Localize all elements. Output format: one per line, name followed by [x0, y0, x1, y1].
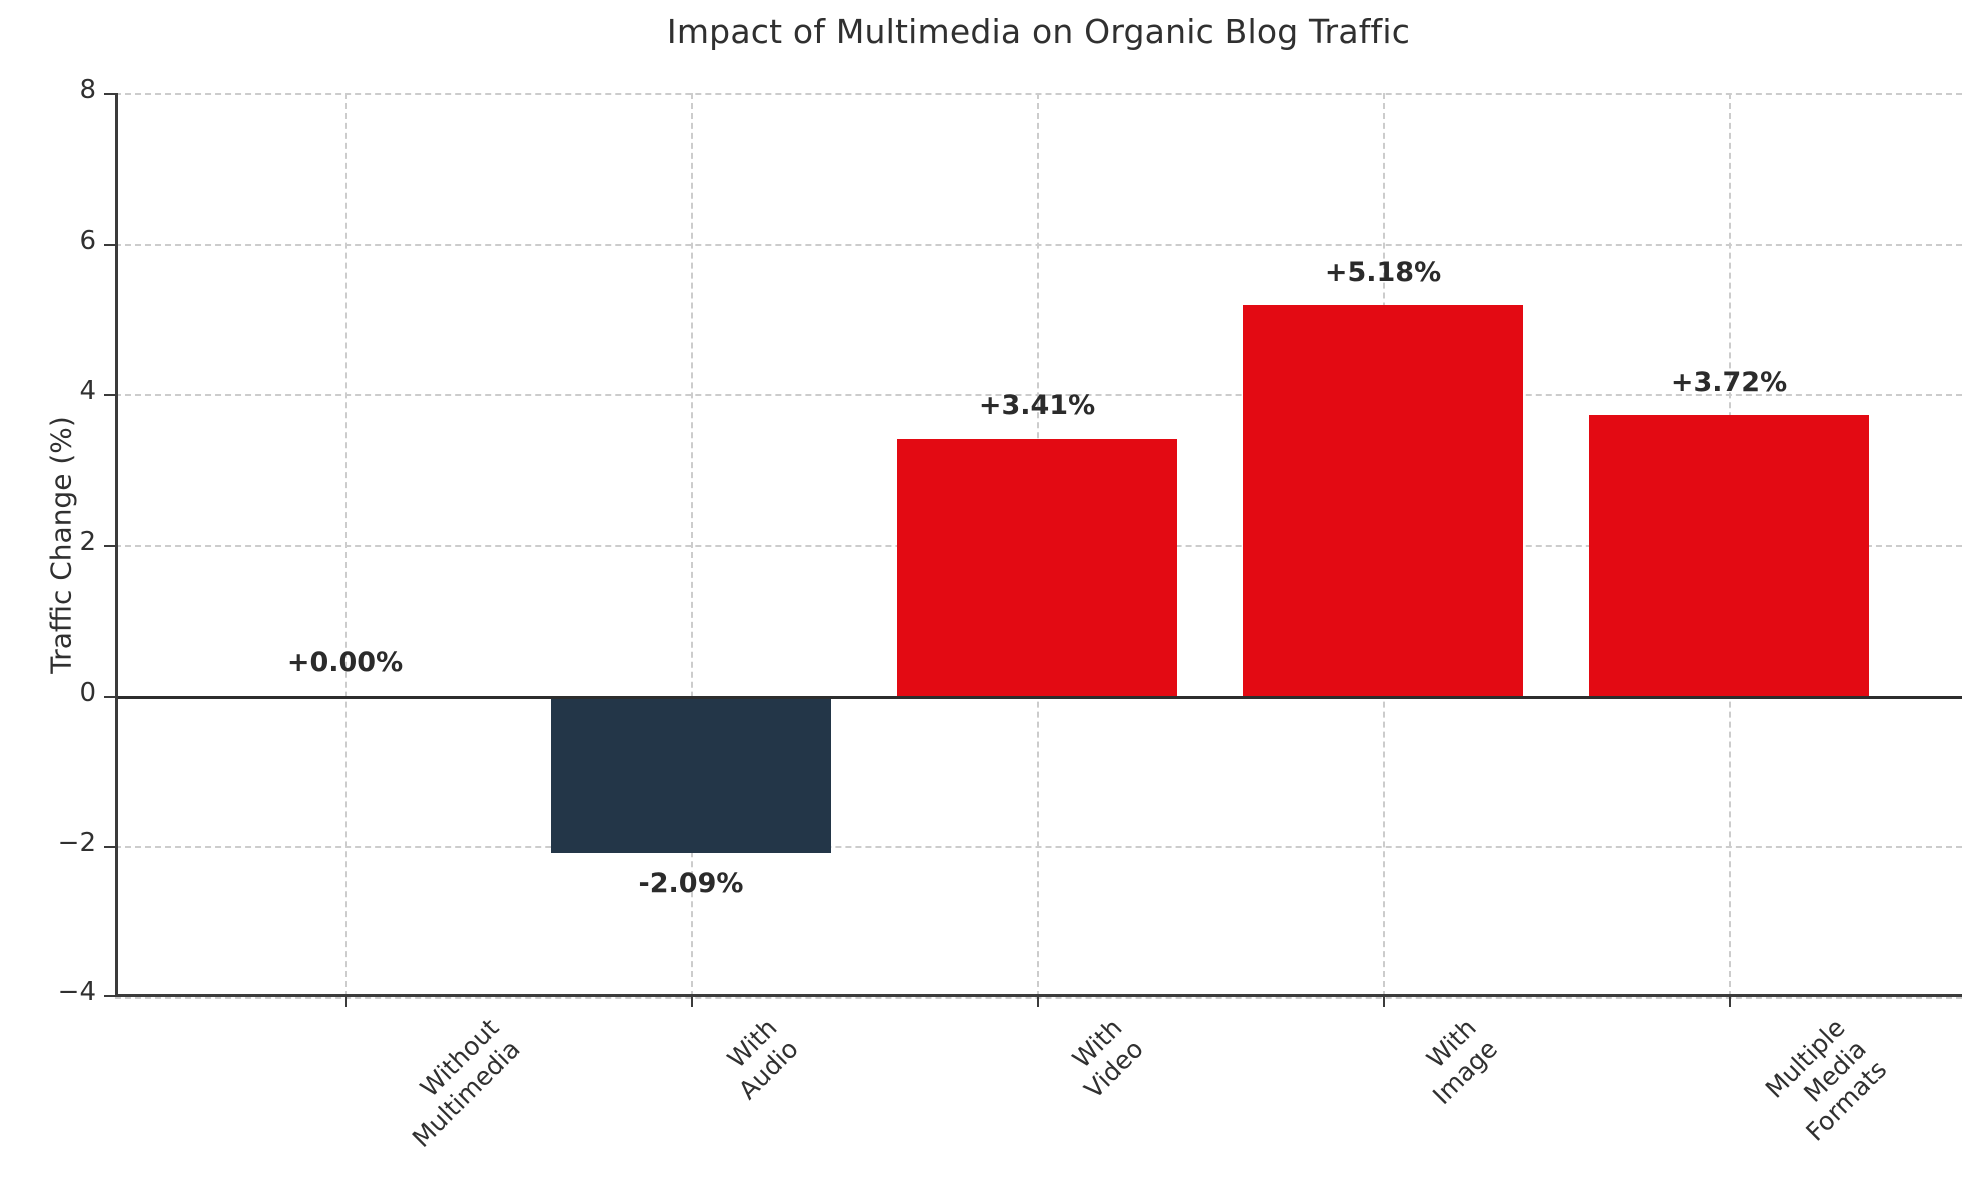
xtick-label-with-image: With Image [1406, 1013, 1503, 1110]
ytick-mark-4 [104, 394, 115, 396]
value-label-multiple-media-formats: +3.72% [1671, 367, 1787, 398]
ytick-mark-neg4 [104, 995, 115, 997]
gridline-v-0 [345, 93, 347, 997]
ytick-mark-6 [104, 244, 115, 246]
bar-with-video[interactable] [897, 439, 1177, 696]
ytick-label-4: 4 [20, 376, 96, 406]
plot-area: +0.00% -2.09% +3.41% +5.18% +3.72% 8 6 4… [115, 93, 1962, 997]
xtick-mark-1 [691, 997, 693, 1007]
bar-with-audio[interactable] [551, 696, 831, 854]
ytick-mark-0 [104, 696, 115, 698]
axis-spine-bottom [115, 994, 1962, 997]
ytick-label-neg4: −4 [20, 977, 96, 1007]
xtick-mark-3 [1383, 997, 1385, 1007]
ytick-mark-8 [104, 93, 115, 95]
xtick-label-with-audio: With Audio [712, 1013, 804, 1105]
xtick-label-with-video: With Video [1058, 1013, 1149, 1104]
ytick-label-6: 6 [20, 226, 96, 256]
bar-multiple-media-formats[interactable] [1589, 415, 1869, 695]
value-label-without-multimedia: +0.00% [287, 647, 403, 678]
xtick-label-without-multimedia: Without Multimedia [386, 1013, 526, 1153]
xtick-mark-2 [1037, 997, 1039, 1007]
xtick-label-multiple-media-formats: Multiple Media Formats [1759, 1013, 1893, 1147]
ytick-label-0: 0 [20, 678, 96, 708]
y-axis-label: Traffic Change (%) [45, 416, 78, 674]
value-label-with-audio: -2.09% [639, 868, 744, 899]
ytick-label-8: 8 [20, 75, 96, 105]
xtick-mark-4 [1729, 997, 1731, 1007]
ytick-mark-2 [104, 545, 115, 547]
ytick-label-neg2: −2 [20, 828, 96, 858]
gridline-v-1 [691, 93, 693, 997]
chart-figure: Impact of Multimedia on Organic Blog Tra… [0, 0, 1979, 1180]
chart-title: Impact of Multimedia on Organic Blog Tra… [115, 12, 1962, 51]
bar-with-image[interactable] [1243, 305, 1523, 695]
value-label-with-image: +5.18% [1325, 257, 1441, 288]
axis-spine-left [115, 93, 118, 997]
xtick-mark-0 [345, 997, 347, 1007]
zero-line [115, 696, 1962, 699]
value-label-with-video: +3.41% [979, 390, 1095, 421]
ytick-mark-neg2 [104, 846, 115, 848]
